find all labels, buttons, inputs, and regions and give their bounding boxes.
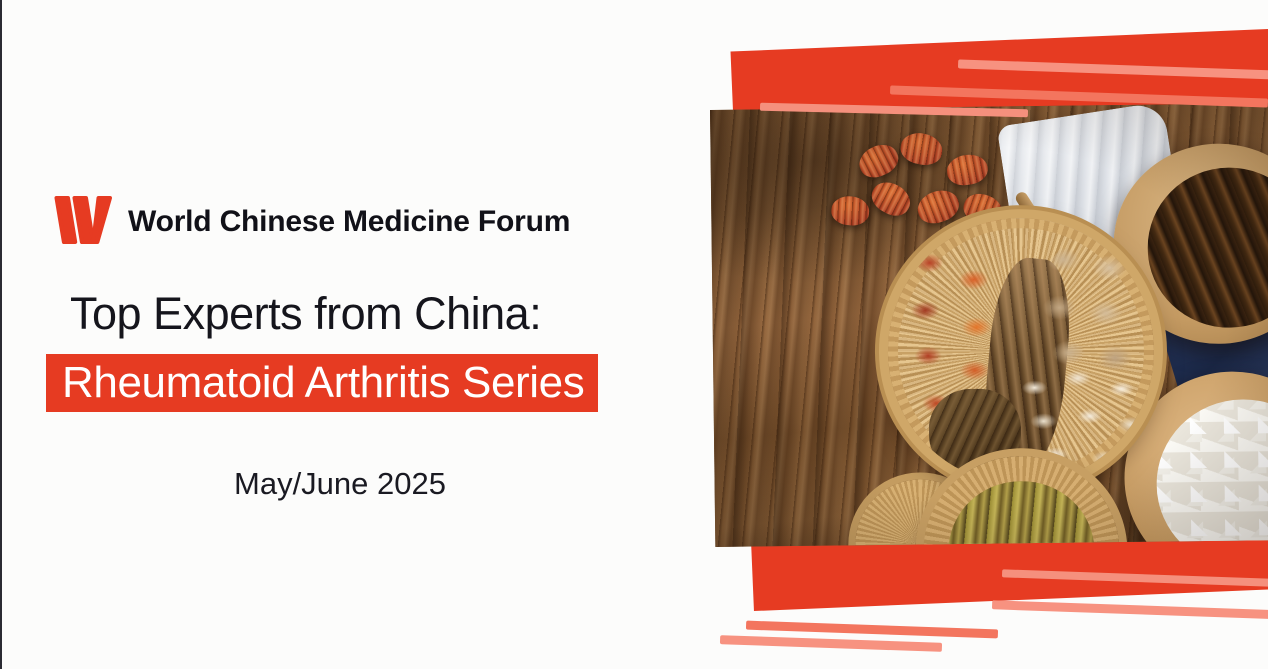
w-monogram-icon xyxy=(54,196,112,248)
slide-headline: Top Experts from China: xyxy=(70,288,541,340)
chinese-herbal-medicine-photo xyxy=(710,103,1268,547)
brand-lockup: World Chinese Medicine Forum xyxy=(54,196,570,248)
brand-name: World Chinese Medicine Forum xyxy=(128,205,570,239)
presentation-slide: World Chinese Medicine Forum Top Experts… xyxy=(0,0,1268,669)
slide-subheadline-band: Rheumatoid Arthritis Series xyxy=(46,354,598,412)
slide-subheadline: Rheumatoid Arthritis Series xyxy=(62,361,584,405)
slide-date: May/June 2025 xyxy=(234,466,446,502)
bamboo-basket-main xyxy=(886,217,1155,486)
slide-text-column: World Chinese Medicine Forum Top Experts… xyxy=(2,0,702,669)
accent-line-bottom-left-3 xyxy=(720,635,942,652)
accent-line-bottom-left-2 xyxy=(746,621,998,639)
accent-line-bottom-right-1 xyxy=(992,600,1268,621)
slide-visual-column xyxy=(702,0,1268,669)
